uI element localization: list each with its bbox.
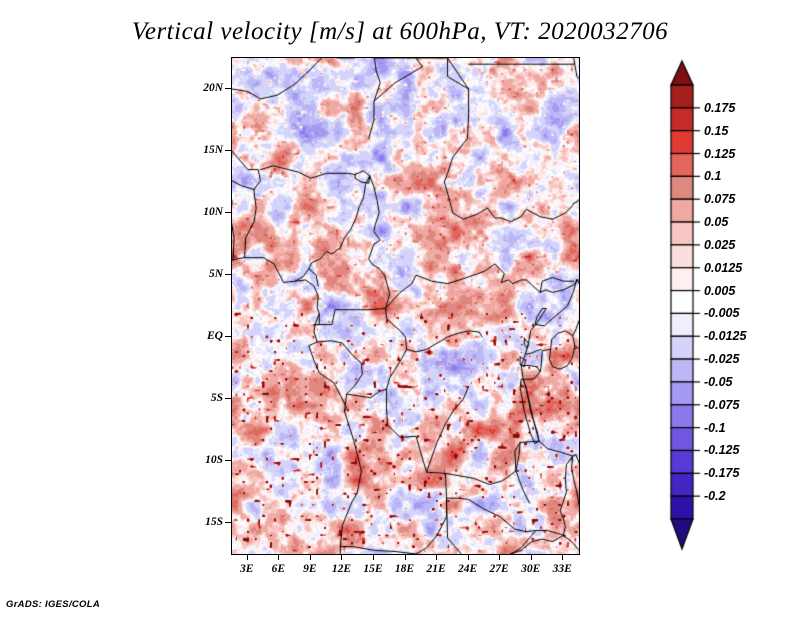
lon-tick-mark: [405, 554, 406, 560]
colorbar-tick-label: -0.025: [704, 352, 739, 366]
colorbar-tick-label: 0.05: [704, 215, 728, 229]
colorbar-tick-label: -0.05: [704, 375, 733, 389]
lat-tick-mark: [225, 88, 231, 89]
lon-tick-mark: [278, 554, 279, 560]
lon-tick-mark: [531, 554, 532, 560]
colorbar-tick-label: -0.175: [704, 466, 739, 480]
lat-tick-mark: [225, 150, 231, 151]
colorbar-tick-label: 0.0125: [704, 261, 742, 275]
lat-tick-label: EQ: [189, 330, 223, 342]
lat-tick-mark: [225, 274, 231, 275]
lon-tick-mark: [499, 554, 500, 560]
lat-tick-mark: [225, 460, 231, 461]
lon-tick-label: 9E: [303, 563, 316, 575]
lon-tick-mark: [247, 554, 248, 560]
colorbar-tick-label: -0.075: [704, 398, 739, 412]
lat-tick-label: 15S: [189, 516, 223, 528]
lat-tick-label: 20N: [189, 82, 223, 94]
lon-tick-mark: [373, 554, 374, 560]
lat-tick-label: 15N: [189, 144, 223, 156]
page-title: Vertical velocity [m/s] at 600hPa, VT: 2…: [0, 18, 800, 46]
lon-tick-label: 18E: [395, 563, 414, 575]
colorbar-tick-label: 0.075: [704, 192, 735, 206]
colorbar: 0.1750.150.1250.10.0750.050.0250.01250.0…: [660, 57, 800, 557]
footer-credit: GrADS: IGES/COLA: [6, 599, 100, 610]
lon-tick-label: 12E: [332, 563, 351, 575]
lon-tick-mark: [310, 554, 311, 560]
lon-tick-label: 27E: [490, 563, 509, 575]
colorbar-tick-label: 0.025: [704, 238, 735, 252]
lat-tick-label: 5S: [189, 392, 223, 404]
map-plot-area: [231, 57, 580, 555]
colorbar-tick-label: -0.2: [704, 489, 726, 503]
lon-tick-label: 6E: [272, 563, 285, 575]
lat-tick-label: 5N: [189, 268, 223, 280]
colorbar-tick-label: -0.005: [704, 306, 739, 320]
lat-tick-mark: [225, 336, 231, 337]
colorbar-tick-label: 0.175: [704, 101, 735, 115]
colorbar-tick-label: 0.1: [704, 169, 721, 183]
colorbar-tick-label: 0.125: [704, 147, 735, 161]
lon-tick-label: 33E: [553, 563, 572, 575]
lon-tick-mark: [468, 554, 469, 560]
lon-tick-label: 3E: [240, 563, 253, 575]
colorbar-tick-label: 0.005: [704, 284, 735, 298]
lat-tick-mark: [225, 522, 231, 523]
colorbar-tick-label: -0.125: [704, 443, 739, 457]
colorbar-tick-label: -0.1: [704, 421, 726, 435]
lon-tick-label: 21E: [426, 563, 445, 575]
lon-tick-mark: [562, 554, 563, 560]
lon-tick-label: 24E: [458, 563, 477, 575]
lon-tick-mark: [436, 554, 437, 560]
vertical-velocity-heatmap: [232, 58, 579, 554]
lon-tick-mark: [341, 554, 342, 560]
colorbar-tick-label: -0.0125: [704, 329, 746, 343]
colorbar-tick-label: 0.15: [704, 124, 728, 138]
lat-tick-label: 10N: [189, 206, 223, 218]
lat-tick-mark: [225, 212, 231, 213]
lon-tick-label: 15E: [363, 563, 382, 575]
lon-tick-label: 30E: [521, 563, 540, 575]
lat-tick-mark: [225, 398, 231, 399]
lat-tick-label: 10S: [189, 454, 223, 466]
